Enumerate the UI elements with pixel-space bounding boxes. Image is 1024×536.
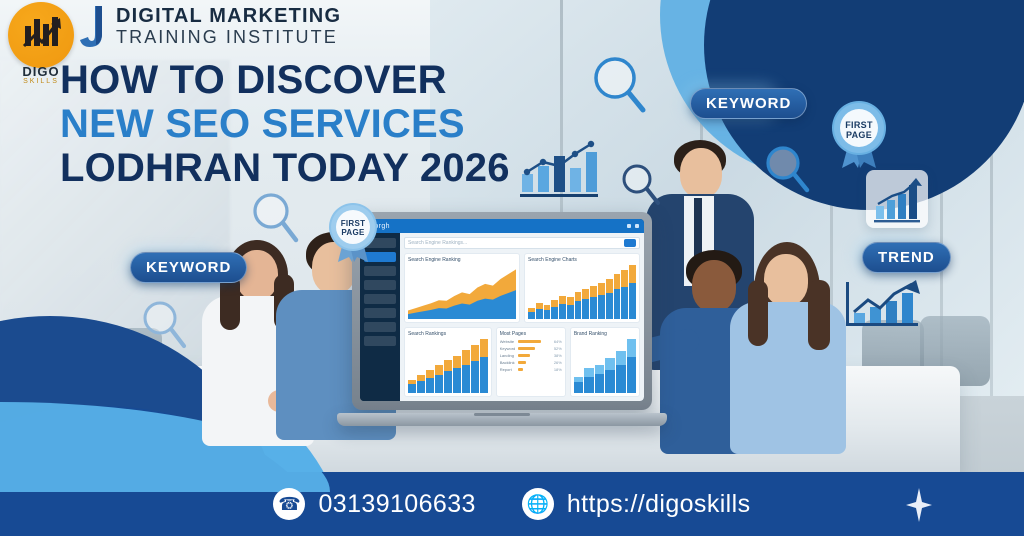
rosette-line-2: PAGE xyxy=(846,130,872,140)
table-row: Keyword52% xyxy=(500,346,562,351)
table-row: Report18% xyxy=(500,367,562,372)
globe-icon: 🌐 xyxy=(522,488,554,520)
row-bar xyxy=(518,361,526,364)
row-label: Website xyxy=(500,339,516,344)
growth-chart-card-icon xyxy=(866,170,928,228)
footer-website[interactable]: 🌐 https://digoskills xyxy=(522,488,751,520)
card-title: Search Rankings xyxy=(408,331,488,337)
bar-chart xyxy=(528,265,636,319)
bar-chart-line-icon xyxy=(516,138,602,198)
row-label: Report xyxy=(500,367,516,372)
j-monogram-icon xyxy=(80,4,110,50)
laptop: Seorgh xyxy=(352,212,667,426)
headline-line-3: LODHRAN TODAY 2026 xyxy=(60,146,510,190)
card-title: Brand Ranking xyxy=(574,331,636,337)
rosette-first-page-left: FIRST PAGE xyxy=(322,200,384,264)
chip-keyword-left[interactable]: KEYWORD xyxy=(130,252,247,283)
sidebar-item-backlinks[interactable] xyxy=(364,280,396,290)
row-bar xyxy=(518,368,523,371)
laptop-base xyxy=(337,413,667,426)
brand-text: DIGITAL MARKETING TRAINING INSTITUTE xyxy=(116,6,341,48)
row-value: 38% xyxy=(554,353,562,358)
dashboard-main: Search Engine Rankings... Search Engine … xyxy=(400,233,644,401)
magnifier-icon xyxy=(248,188,302,248)
sidebar-item-keywords[interactable] xyxy=(364,266,396,276)
rosette-line-1: FIRST xyxy=(845,120,873,130)
dashboard-search-bar[interactable]: Search Engine Rankings... xyxy=(404,237,640,249)
chart-bar xyxy=(621,265,628,319)
table-row: Landing38% xyxy=(500,353,562,358)
chart-bar xyxy=(453,339,461,393)
dashboard-cards-row-2: Search Rankings Most Pages Website64%Key… xyxy=(404,327,640,397)
headline-line-1: HOW TO DISCOVER xyxy=(60,58,510,102)
chart-bar xyxy=(582,265,589,319)
bar-chart xyxy=(408,339,488,393)
chart-bar xyxy=(435,339,443,393)
chart-bar xyxy=(606,265,613,319)
minimize-icon[interactable] xyxy=(627,224,631,228)
row-value: 64% xyxy=(554,339,562,344)
chart-bar xyxy=(595,339,605,393)
card-title: Search Engine Charts xyxy=(528,257,636,263)
dashboard-cards-row-1: Search Engine Ranking Search Engine Char… xyxy=(404,253,640,323)
window-controls xyxy=(627,224,639,228)
footer-bar: ☎ 03139106633 🌐 https://digoskills xyxy=(0,472,1024,536)
rosette-label: FIRST PAGE xyxy=(824,98,894,170)
row-label: Landing xyxy=(500,353,516,358)
card-most-pages: Most Pages Website64%Keyword52%Landing38… xyxy=(496,327,566,397)
search-input[interactable]: Search Engine Rankings... xyxy=(408,240,621,246)
trackpad-notch xyxy=(474,413,530,416)
magnifier-icon xyxy=(762,142,812,198)
sidebar-item-reports[interactable] xyxy=(364,322,396,332)
chart-bar xyxy=(629,265,636,319)
trend-arrow-chart-icon xyxy=(836,276,928,334)
chart-bar xyxy=(551,265,558,319)
chart-bar xyxy=(444,339,452,393)
sidebar-item-settings[interactable] xyxy=(364,336,396,346)
area-series xyxy=(408,265,516,319)
chart-bar xyxy=(584,339,594,393)
chart-bar xyxy=(574,339,584,393)
chart-bar xyxy=(528,265,535,319)
chart-bar xyxy=(590,265,597,319)
card-title: Search Engine Ranking xyxy=(408,257,516,263)
chart-bar xyxy=(627,339,637,393)
table-row: Website64% xyxy=(500,339,562,344)
rosette-line-1: FIRST xyxy=(341,219,366,228)
area-chart xyxy=(408,265,516,319)
sidebar-item-ranking[interactable] xyxy=(364,294,396,304)
row-label: Backlink xyxy=(500,360,516,365)
chart-bar xyxy=(480,339,488,393)
chart-bar xyxy=(559,265,566,319)
chart-bar xyxy=(598,265,605,319)
chart-bar xyxy=(567,265,574,319)
rosette-line-2: PAGE xyxy=(341,228,364,237)
chart-bar xyxy=(605,339,615,393)
chart-bar xyxy=(471,339,479,393)
chip-trend[interactable]: TREND xyxy=(862,242,951,273)
laptop-lid: Seorgh xyxy=(352,212,652,410)
card-title: Most Pages xyxy=(500,331,562,337)
row-value: 26% xyxy=(554,360,562,365)
row-bar xyxy=(518,347,535,350)
chip-keyword-right[interactable]: KEYWORD xyxy=(690,88,807,119)
row-bar xyxy=(518,354,530,357)
table-row: Backlink26% xyxy=(500,360,562,365)
chart-bar xyxy=(462,339,470,393)
card-brand-ranking: Brand Ranking xyxy=(570,327,640,397)
magnifier-icon xyxy=(618,160,662,210)
row-value: 52% xyxy=(554,346,562,351)
chart-bar xyxy=(536,265,543,319)
rosette-first-page-right: FIRST PAGE xyxy=(824,98,894,170)
chart-bar xyxy=(614,265,621,319)
card-search-rankings: Search Rankings xyxy=(404,327,492,397)
chart-bar xyxy=(426,339,434,393)
chart-bar xyxy=(616,339,626,393)
brand-line-2: TRAINING INSTITUTE xyxy=(116,26,341,48)
sparkle-icon xyxy=(906,488,932,522)
footer-phone[interactable]: ☎ 03139106633 xyxy=(273,488,475,520)
brand-line-1: DIGITAL MARKETING xyxy=(116,6,341,26)
bar-chart xyxy=(574,339,636,393)
chart-bar xyxy=(544,265,551,319)
phone-icon: ☎ xyxy=(273,488,305,520)
search-icon[interactable] xyxy=(624,239,636,247)
chart-bar xyxy=(417,339,425,393)
dashboard-titlebar: Seorgh xyxy=(360,219,644,233)
website-url: https://digoskills xyxy=(567,490,751,519)
headline-line-2: NEW SEO SERVICES xyxy=(60,102,510,146)
row-label: Keyword xyxy=(500,346,516,351)
sidebar-item-analytics[interactable] xyxy=(364,308,396,318)
rosette-label: FIRST PAGE xyxy=(322,200,384,264)
phone-number: 03139106633 xyxy=(318,490,475,519)
row-bar xyxy=(518,340,541,343)
magnifier-icon xyxy=(138,296,190,354)
headline: HOW TO DISCOVER NEW SEO SERVICES LODHRAN… xyxy=(60,58,510,190)
person-woman-right xyxy=(726,242,850,454)
magnifier-icon xyxy=(588,52,648,122)
chart-bar xyxy=(575,265,582,319)
card-search-engine-ranking: Search Engine Ranking xyxy=(404,253,520,323)
row-value: 18% xyxy=(554,367,562,372)
close-icon[interactable] xyxy=(635,224,639,228)
laptop-screen: Seorgh xyxy=(360,219,644,401)
seo-marketing-banner: Seorgh xyxy=(0,0,1024,536)
card-search-engine-charts: Search Engine Charts xyxy=(524,253,640,323)
dashboard-body: Search Engine Rankings... Search Engine … xyxy=(360,233,644,401)
chart-bar xyxy=(408,339,416,393)
kv-table: Website64%Keyword52%Landing38%Backlink26… xyxy=(500,339,562,374)
